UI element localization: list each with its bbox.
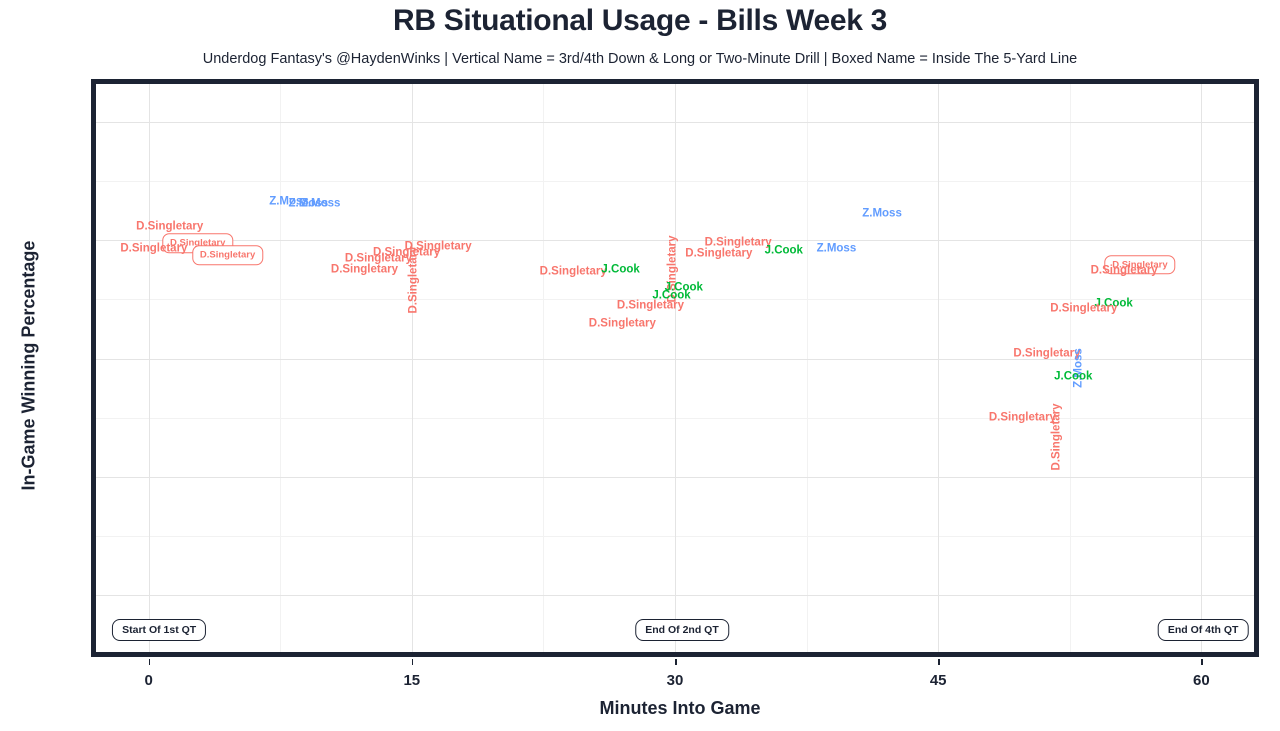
plot-area: D.SingletaryD.SingletaryD.SingletaryD.Si… <box>96 84 1254 652</box>
data-point-label: D.Singletary <box>1052 404 1064 471</box>
y-axis-title: In-Game Winning Percentage <box>19 106 40 626</box>
x-axis-tick-mark <box>149 659 151 665</box>
data-point-label: D.Singletary <box>617 301 684 313</box>
x-axis-tick-label: 0 <box>89 672 209 689</box>
plot-panel: D.SingletaryD.SingletaryD.SingletaryD.Si… <box>91 79 1259 657</box>
data-point-label: Z.Moss <box>817 243 857 255</box>
gridline-vertical <box>1070 84 1071 652</box>
gridline-vertical <box>543 84 544 652</box>
x-axis-title: Minutes Into Game <box>90 698 1270 719</box>
data-point-label: J.Cook <box>1054 371 1092 383</box>
gridline-vertical <box>938 84 939 652</box>
gridline-vertical <box>149 84 150 652</box>
x-axis-tick-label: 60 <box>1141 672 1261 689</box>
data-point-label: D.Singletary <box>1050 304 1117 316</box>
gridline-vertical <box>1201 84 1202 652</box>
quarter-annotation: Start Of 1st QT <box>112 619 206 641</box>
chart-root: RB Situational Usage - Bills Week 3 Unde… <box>0 0 1280 731</box>
data-point-label: D.Singletary <box>192 246 263 266</box>
x-axis-tick-mark <box>412 659 414 665</box>
gridline-vertical <box>675 84 676 652</box>
data-point-label: D.Singletary <box>589 318 656 330</box>
x-axis-tick-mark <box>675 659 677 665</box>
data-point-label: Z.Moss <box>301 198 341 210</box>
data-point-label: D.Singletary <box>331 265 398 277</box>
chart-title: RB Situational Usage - Bills Week 3 <box>0 4 1280 38</box>
x-axis-tick-mark <box>938 659 940 665</box>
data-point-label: D.Singletary <box>1013 348 1080 360</box>
data-point-label: D.Singletary <box>989 412 1056 424</box>
data-point-label: J.Cook <box>765 245 803 257</box>
data-point-label: D.Singletary <box>540 267 607 279</box>
data-point-label: D.Singletary <box>1091 266 1158 278</box>
x-axis-tick-label: 15 <box>352 672 472 689</box>
x-axis-tick-mark <box>1201 659 1203 665</box>
data-point-label: D.Singletary <box>408 247 420 314</box>
gridline-vertical <box>807 84 808 652</box>
x-axis-tick-label: 30 <box>615 672 735 689</box>
data-point-label: D.Singletary <box>136 221 203 233</box>
quarter-annotation: End Of 4th QT <box>1158 619 1249 641</box>
data-point-label: Z.Moss <box>862 208 902 220</box>
gridline-vertical <box>412 84 413 652</box>
quarter-annotation: End Of 2nd QT <box>635 619 729 641</box>
data-point-label: D.Singletary <box>685 249 752 261</box>
gridline-vertical <box>280 84 281 652</box>
chart-subtitle: Underdog Fantasy's @HaydenWinks | Vertic… <box>0 51 1280 67</box>
data-point-label: J.Cook <box>601 264 639 276</box>
data-point-label: D.Singletary <box>120 243 187 255</box>
x-axis-tick-label: 45 <box>878 672 998 689</box>
